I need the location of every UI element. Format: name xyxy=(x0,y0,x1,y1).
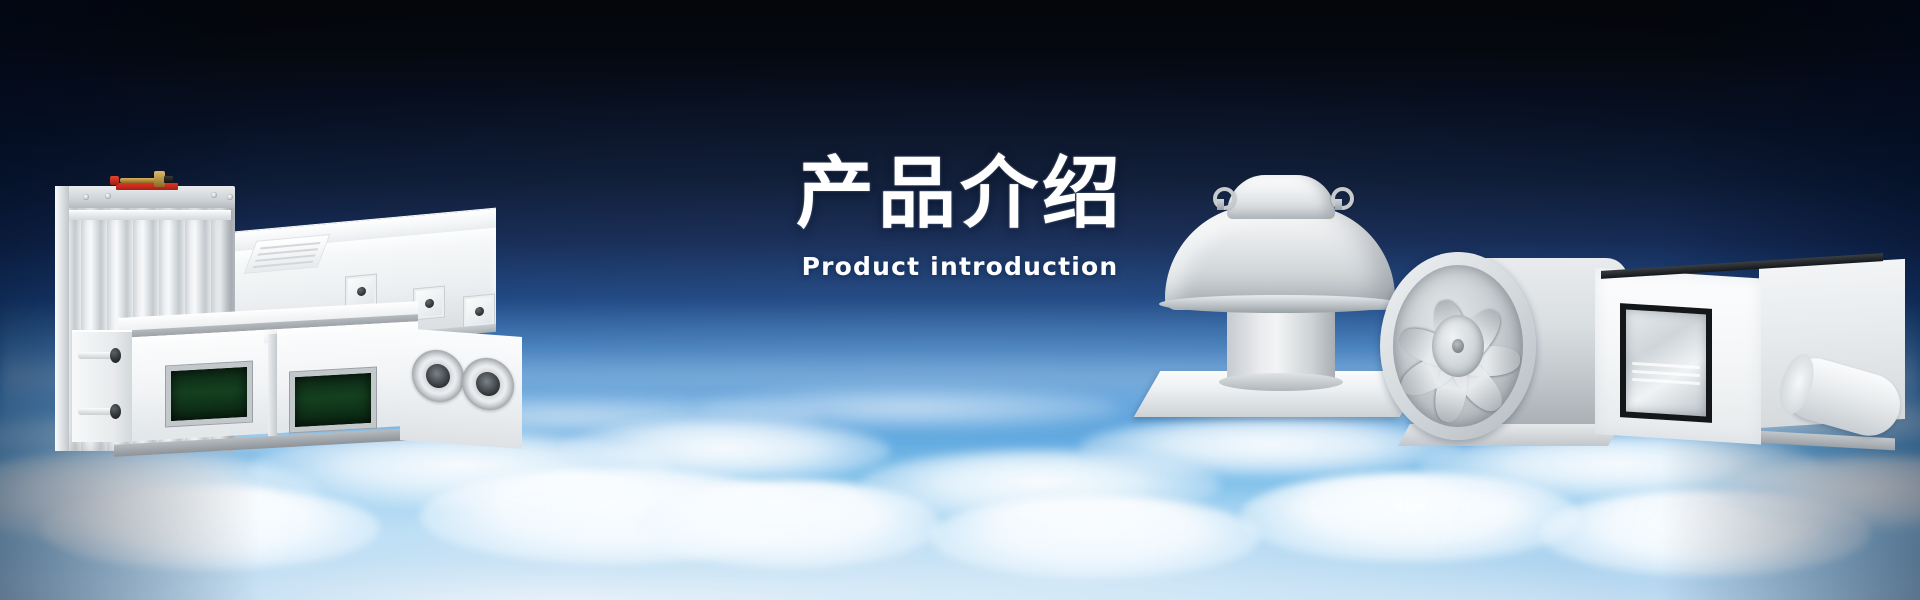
banner-headings: 产品介绍 Product introduction xyxy=(0,150,1920,281)
product-air-handling-unit-front xyxy=(118,318,418,442)
access-hatch xyxy=(464,295,494,328)
product-cabinet-fan-unit xyxy=(1595,262,1905,442)
inspection-window xyxy=(290,368,376,433)
access-door-panel xyxy=(72,330,132,442)
product-introduction-banner: 产品介绍 Product introduction xyxy=(0,0,1920,600)
page-title: 产品介绍 xyxy=(0,150,1920,238)
page-subtitle: Product introduction xyxy=(0,252,1920,281)
access-hatch xyxy=(414,287,444,320)
inspection-window xyxy=(1620,303,1712,423)
product-duct-port-section xyxy=(400,328,522,440)
door-latch-icon xyxy=(110,404,121,419)
door-handle xyxy=(78,408,112,415)
fan-hub xyxy=(1432,315,1484,377)
door-handle xyxy=(78,352,112,359)
fan-bore xyxy=(1393,265,1523,427)
door-latch-icon xyxy=(110,348,121,363)
inspection-window xyxy=(166,362,252,427)
